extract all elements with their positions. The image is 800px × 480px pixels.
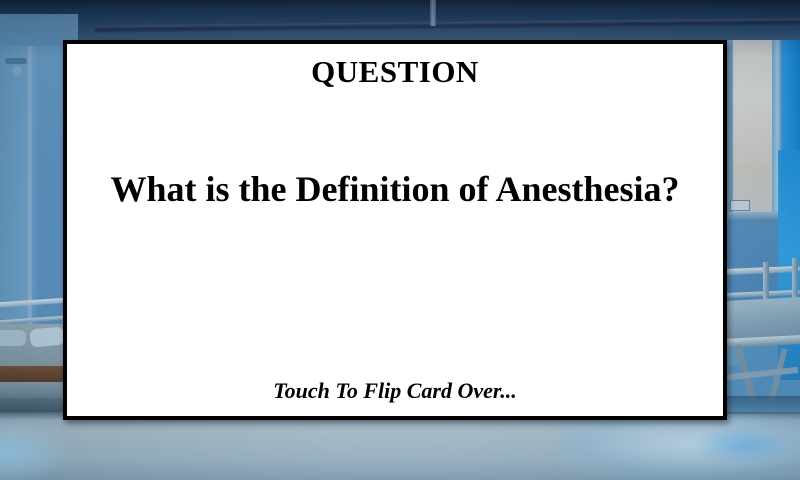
floor-reflection-left [0,418,70,480]
card-title: QUESTION [311,54,479,90]
flip-card-hint[interactable]: Touch To Flip Card Over... [67,378,723,404]
left-bed-wood-trim [0,366,68,382]
flashcard[interactable]: QUESTION What is the Definition of Anest… [63,40,727,420]
left-bed-pillow-2 [29,327,64,348]
floor-reflection-right-hotspot [690,425,800,465]
gurney-post-1 [763,262,769,302]
window-panel-upper [733,38,775,163]
ceiling-rail-vertical [430,0,436,26]
left-wall-highlight [28,20,38,340]
app-screen: QUESTION What is the Definition of Anest… [0,0,800,480]
left-bed-pillow-1 [0,330,26,346]
left-bed-frame [0,398,68,412]
window-latch-icon [730,200,750,211]
wall-fixture-knob-icon [12,66,22,76]
card-question-text: What is the Definition of Anesthesia? [92,168,697,211]
wall-fixture-icon [5,58,27,64]
left-bed-base [0,382,68,398]
